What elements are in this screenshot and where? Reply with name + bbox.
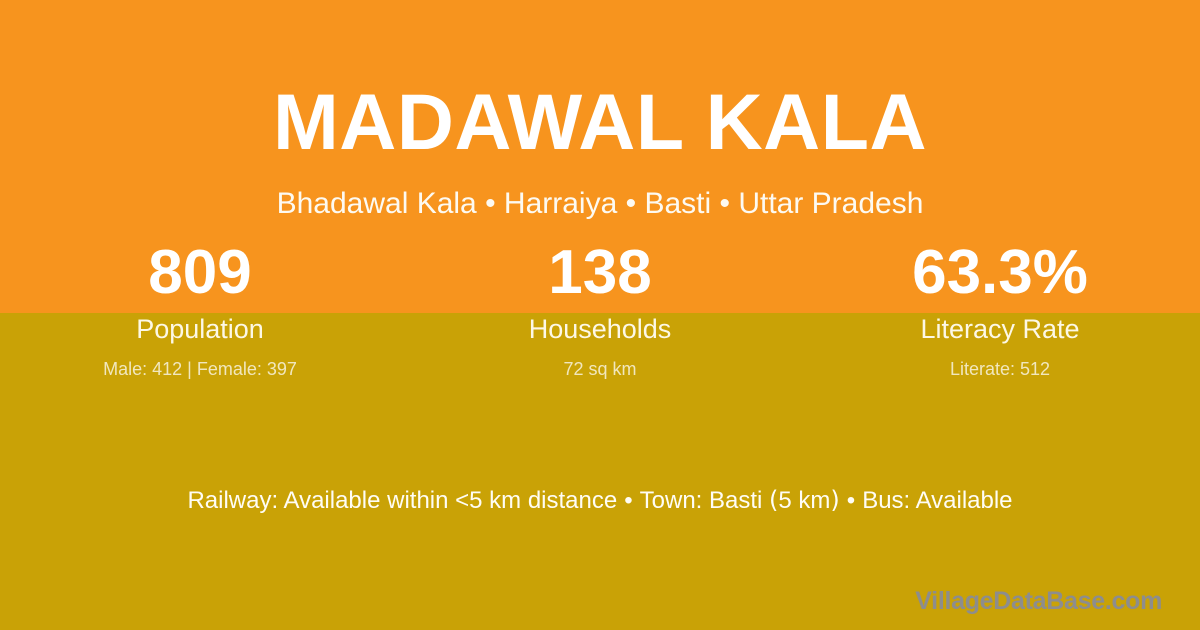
village-info-card: MADAWAL KALA Bhadawal Kala • Harraiya • … — [0, 0, 1200, 630]
stat-households-sub: 72 sq km — [400, 346, 800, 381]
amenity-separator-1: • — [617, 487, 639, 514]
stat-literacy-value: 63.3% — [800, 240, 1200, 306]
amenity-town-distance-close-paren: ) — [830, 486, 839, 514]
stat-literacy-sub: Literate: 512 — [800, 346, 1200, 381]
stat-households-value: 138 — [400, 240, 800, 306]
stat-population-sub: Male: 412 | Female: 397 — [0, 346, 400, 381]
amenities-line: Railway: Available within <5 km distance… — [0, 485, 1200, 516]
amenity-separator-2: • — [840, 487, 862, 514]
amenity-town-distance-open-paren: ( — [769, 486, 778, 514]
header-block: MADAWAL KALA Bhadawal Kala • Harraiya • … — [0, 0, 1200, 220]
stat-households-label: Households — [400, 306, 800, 346]
stats-row: 809 Population Male: 412 | Female: 397 1… — [0, 240, 1200, 381]
stat-literacy-label: Literacy Rate — [800, 306, 1200, 346]
stat-population-value: 809 — [0, 240, 400, 306]
stat-literacy: 63.3% Literacy Rate Literate: 512 — [800, 240, 1200, 381]
breadcrumb: Bhadawal Kala • Harraiya • Basti • Uttar… — [0, 161, 1200, 220]
stat-households: 138 Households 72 sq km — [400, 240, 800, 381]
amenity-bus: Bus: Available — [862, 487, 1012, 514]
stat-population: 809 Population Male: 412 | Female: 397 — [0, 240, 400, 381]
amenity-town: Town: Basti — [640, 487, 763, 514]
page-title: MADAWAL KALA — [0, 0, 1200, 161]
amenity-town-distance: 5 km — [778, 487, 830, 514]
amenity-railway: Railway: Available within <5 km distance — [187, 487, 617, 514]
brand-watermark: VillageDataBase.com — [915, 586, 1162, 616]
stat-population-label: Population — [0, 306, 400, 346]
